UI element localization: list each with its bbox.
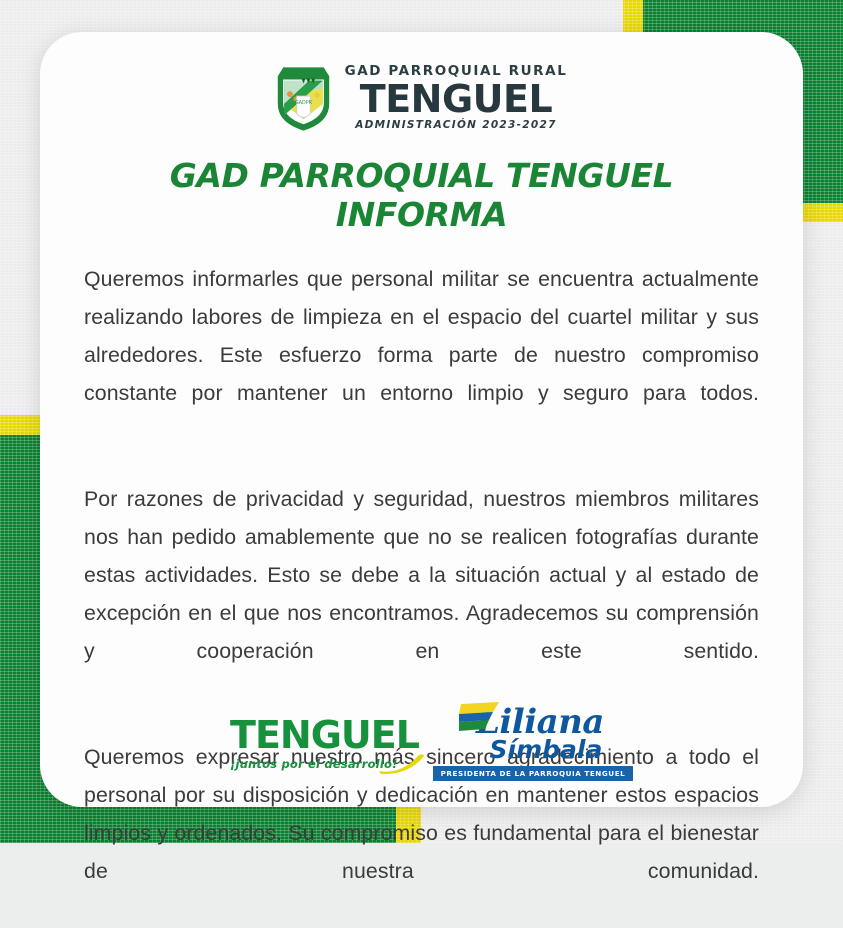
tenguel-brand-tagline: ¡juntos por el desarrollo! — [230, 757, 397, 771]
tenguel-coat-of-arms-icon: GADPR — [276, 65, 331, 131]
tenguel-brand-logo: TENGUEL ¡juntos por el desarrollo! — [230, 716, 419, 771]
liliana-simbala-logo: Liliana Símbala PRESIDENTA DE LA PARROQU… — [453, 705, 613, 781]
institutional-logo-text: GAD PARROQUIAL RURAL TENGUEL ADMINISTRAC… — [345, 65, 568, 131]
body-paragraph: Por razones de privacidad y seguridad, n… — [84, 480, 759, 708]
svg-text:GADPR: GADPR — [295, 100, 313, 106]
yellow-swoosh-icon — [379, 753, 425, 775]
tenguel-brand-word: TENGUEL — [230, 716, 419, 754]
body-paragraph: Queremos informarles que personal milita… — [84, 260, 759, 450]
logo-line-period: ADMINISTRACIÓN 2023-2027 — [355, 120, 557, 131]
institutional-logo: GADPR GAD PARROQUIAL RURAL TENGUEL ADMIN… — [84, 62, 759, 134]
footer-logos: TENGUEL ¡juntos por el desarrollo! Lilia… — [40, 705, 803, 781]
announcement-card: GADPR GAD PARROQUIAL RURAL TENGUEL ADMIN… — [40, 32, 803, 807]
liliana-last-name: Símbala — [490, 737, 603, 762]
flag-ribbon-icon — [459, 700, 519, 734]
announcement-body: Queremos informarles que personal milita… — [84, 260, 759, 928]
page-title: GAD PARROQUIAL TENGUEL INFORMA — [84, 156, 759, 234]
liliana-title-banner: PRESIDENTA DE LA PARROQUIA TENGUEL — [433, 766, 634, 781]
logo-line-main: TENGUEL — [360, 80, 552, 119]
